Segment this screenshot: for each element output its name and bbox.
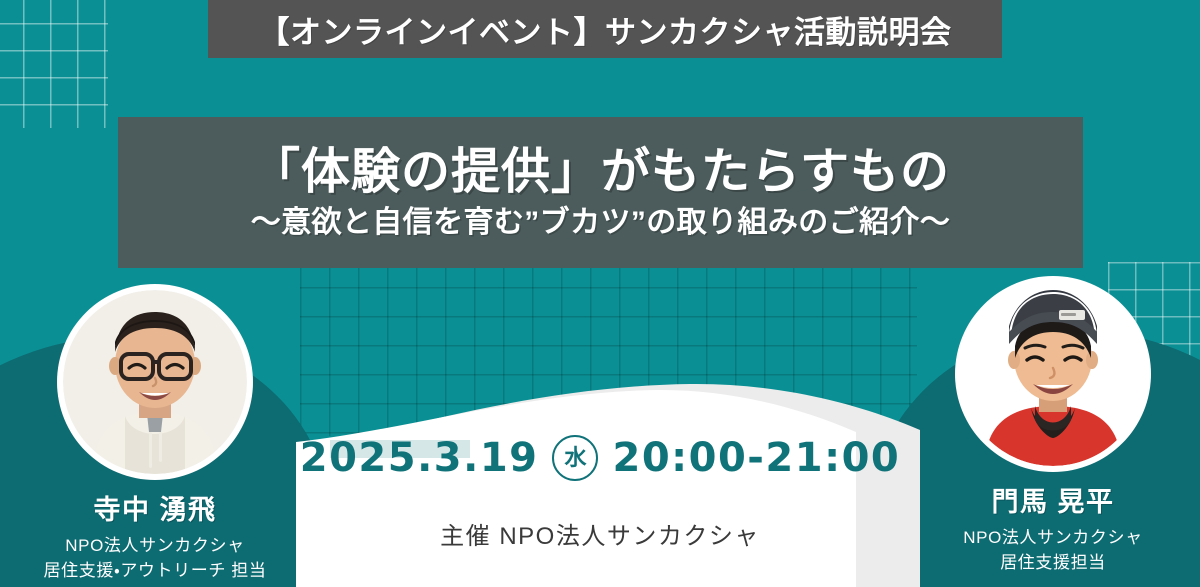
title-block: 「体験の提供」がもたらすもの 〜意欲と自信を育む”ブカツ”の取り組みのご紹介〜 [118,117,1083,268]
avatar-photo-terenaka [63,290,247,474]
event-banner: 【オンラインイベント】サンカクシャ活動説明会 「体験の提供」がもたらすもの 〜意… [0,0,1200,587]
speaker-role-right: 居住支援担当 [888,551,1200,576]
speaker-name-left: 寺中 湧飛 [0,488,320,527]
event-date: 2025.3.19 [300,435,539,481]
top-banner-strip: 【オンラインイベント】サンカクシャ活動説明会 [208,0,1002,58]
grid-pattern-top-left [0,0,108,128]
speaker-role-left: 居住支援・アウトリーチ 担当 [0,559,320,584]
page-subtitle: 〜意欲と自信を育む”ブカツ”の取り組みのご紹介〜 [251,206,951,241]
speaker-org-left: NPO法人サンカクシャ [0,534,320,559]
event-time: 20:00-21:00 [612,435,900,481]
page-title: 「体験の提供」がもたらすもの [251,145,950,200]
event-category-label: 【オンラインイベント】サンカクシャ活動説明会 [259,7,952,52]
weekday-badge: 水 [552,435,598,481]
speaker-card-left: 寺中 湧飛 NPO法人サンカクシャ 居住支援・アウトリーチ 担当 [0,290,320,583]
speaker-name-right: 門馬 晃平 [888,480,1200,519]
avatar-photo-monma [961,282,1145,466]
speaker-card-right: 門馬 晃平 NPO法人サンカクシャ 居住支援担当 [888,282,1200,575]
speaker-org-right: NPO法人サンカクシャ [888,526,1200,551]
